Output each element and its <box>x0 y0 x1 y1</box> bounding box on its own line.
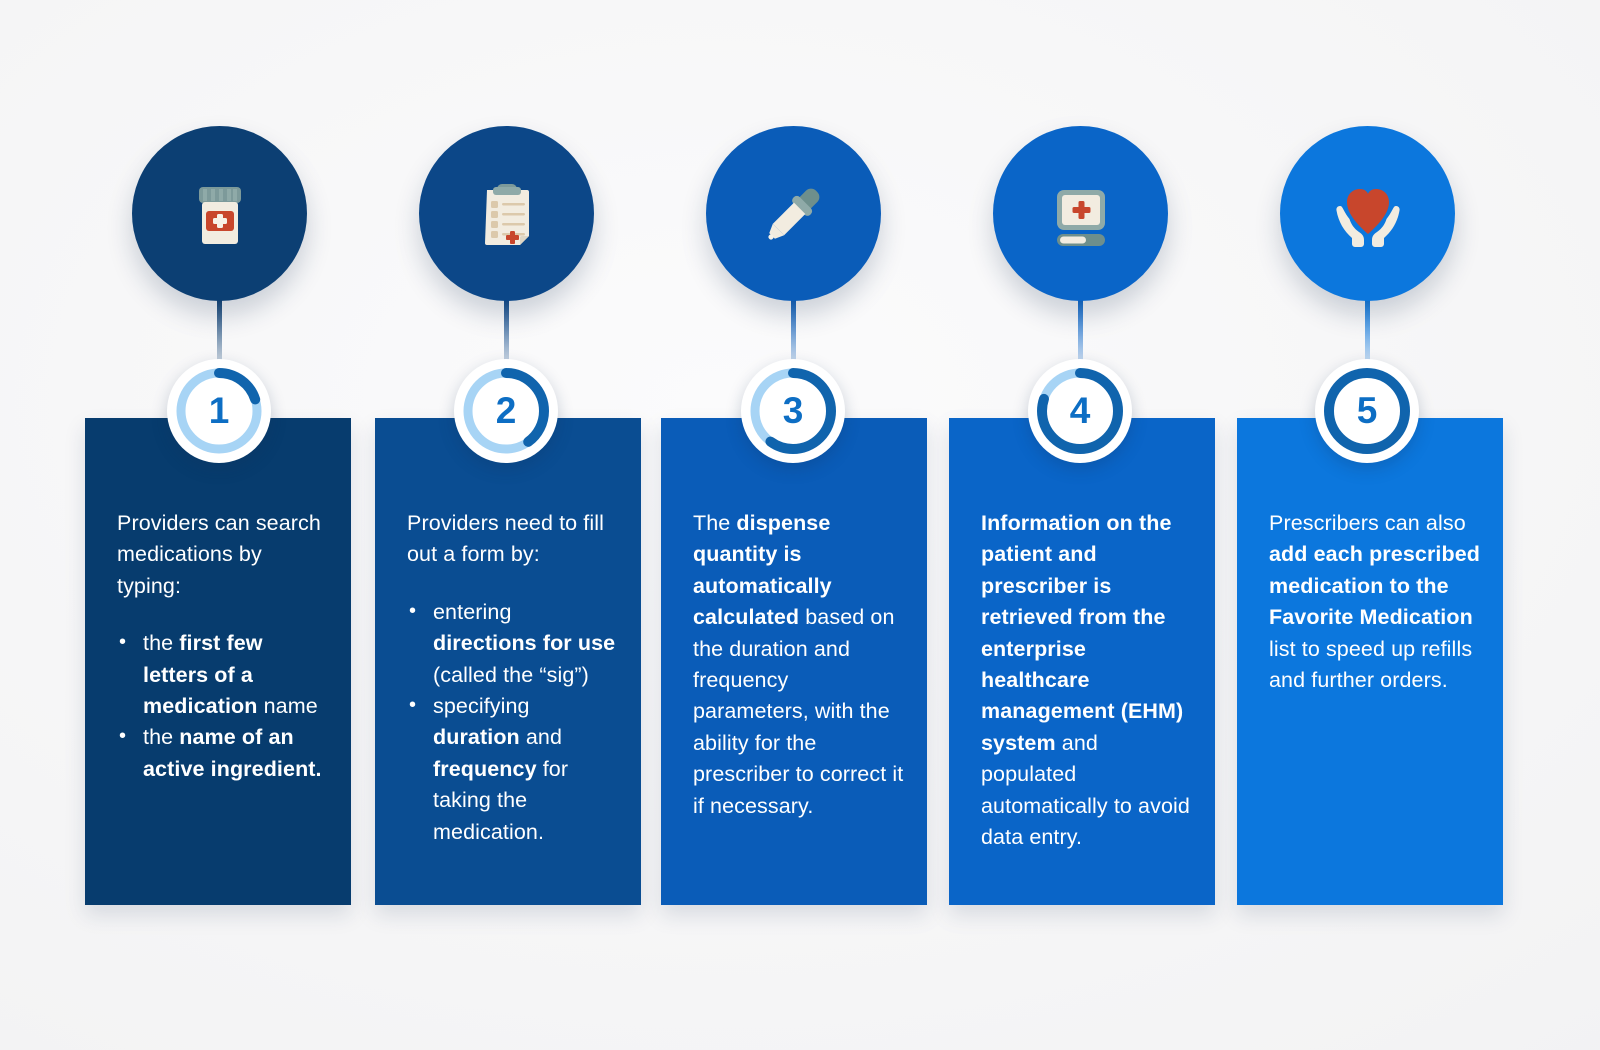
step-card-3: The dispense quantity is automatically c… <box>661 418 927 905</box>
step-badge-2-number: 2 <box>496 392 517 431</box>
step-4-body: Information on the patient and prescribe… <box>981 508 1193 853</box>
step-card-1: Providers can search medications by typi… <box>85 418 351 905</box>
step-badge-5[interactable]: 5 <box>1315 359 1419 463</box>
step-card-5-text: Prescribers can also add each prescribed… <box>1269 508 1481 696</box>
hands-heart-icon <box>1322 168 1414 260</box>
step-icon-circle-3 <box>706 126 881 301</box>
step-icon-circle-1 <box>132 126 307 301</box>
list-item: the first few letters of a medication na… <box>117 628 329 722</box>
step-1-intro: Providers can search medications by typi… <box>117 508 329 602</box>
list-item: entering directions for use (called the … <box>407 597 619 691</box>
step-badge-3-number: 3 <box>783 392 804 431</box>
step-card-5: Prescribers can also add each prescribed… <box>1237 418 1503 905</box>
step-1-bullets: the first few letters of a medication na… <box>117 628 329 785</box>
step-card-4-text: Information on the patient and prescribe… <box>981 508 1193 853</box>
step-card-2: Providers need to fill out a form by: en… <box>375 418 641 905</box>
step-2-bullets: entering directions for use (called the … <box>407 597 619 848</box>
step-icon-circle-2 <box>419 126 594 301</box>
step-badge-5-number: 5 <box>1357 392 1378 431</box>
list-item: specifying duration and frequency for ta… <box>407 691 619 848</box>
step-icon-circle-5 <box>1280 126 1455 301</box>
step-badge-4[interactable]: 4 <box>1028 359 1132 463</box>
step-badge-3[interactable]: 3 <box>741 359 845 463</box>
step-2-intro: Providers need to fill out a form by: <box>407 508 619 571</box>
dropper-pipette-icon <box>748 168 840 260</box>
pill-bottle-icon <box>174 168 266 260</box>
step-card-4: Information on the patient and prescribe… <box>949 418 1215 905</box>
list-item: the name of an active ingredient. <box>117 722 329 785</box>
step-3-body: The dispense quantity is automatically c… <box>693 508 905 822</box>
step-card-3-text: The dispense quantity is automatically c… <box>693 508 905 822</box>
step-card-1-text: Providers can search medications by typi… <box>117 508 329 785</box>
step-icon-circle-4 <box>993 126 1168 301</box>
step-5-body: Prescribers can also add each prescribed… <box>1269 508 1481 696</box>
clipboard-form-icon <box>461 168 553 260</box>
step-badge-4-number: 4 <box>1070 392 1091 431</box>
step-badge-1-number: 1 <box>209 392 230 431</box>
step-badge-2[interactable]: 2 <box>454 359 558 463</box>
step-card-2-text: Providers need to fill out a form by: en… <box>407 508 619 848</box>
infographic-stage: Providers can search medications by typi… <box>0 0 1600 1050</box>
medical-monitor-icon <box>1035 168 1127 260</box>
step-badge-1[interactable]: 1 <box>167 359 271 463</box>
